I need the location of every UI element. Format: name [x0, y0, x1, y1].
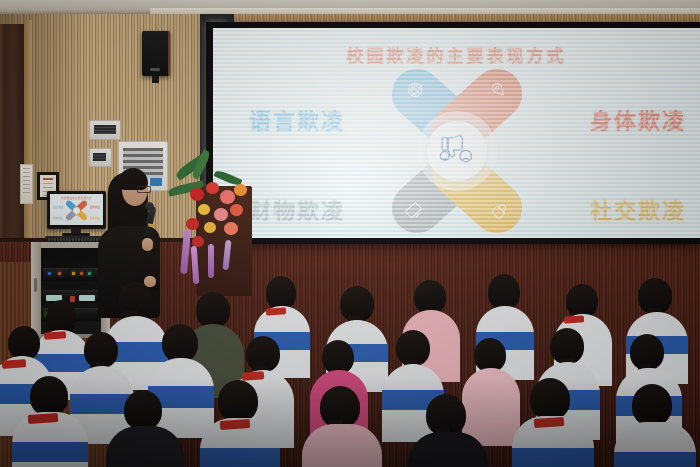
location-pin-icon: [486, 77, 515, 106]
monitor-label-verbal: 语言欺凌: [53, 205, 63, 209]
monitor-icon: [401, 198, 430, 227]
flower-bloom-red-2: [206, 182, 219, 194]
vent-box-upper: [89, 120, 121, 140]
thumbs-down-sad-face-icon: [436, 132, 478, 171]
flower-bloom-red-3: [230, 204, 243, 216]
classroom-photo: 校园欺凌的主要表现方式 语言欺凌 身体欺凌 财物欺凌 社交欺凌: [0, 0, 700, 467]
globe-icon: [399, 77, 428, 106]
monitor-mini-diagram: [68, 202, 85, 219]
slide-label-physical-bullying: 身体欺凌: [590, 104, 686, 136]
flower-bloom-pink-1: [220, 190, 235, 204]
presenter-glasses: [137, 186, 151, 193]
student-audience: [0, 272, 700, 467]
flower-bloom-orange-2: [224, 222, 238, 235]
flower-drape-purple-1: [180, 230, 191, 274]
presenter-hand-holding-mic: [142, 238, 153, 251]
flower-bloom-pink-2: [214, 208, 228, 221]
flower-bloom-orange-1: [234, 184, 247, 196]
slide-label-property-bullying: 财物欺凌: [249, 194, 345, 226]
slide-x-diagram: [391, 81, 523, 221]
flower-bloom-red-4: [186, 218, 199, 230]
monitor-center-disc: [73, 207, 80, 214]
speaker-mount-bracket: [152, 76, 159, 83]
monitor-label-property: 财物欺凌: [53, 216, 63, 220]
speaker-logo: [150, 68, 160, 71]
slide-label-social-bullying: 社交欺凌: [590, 194, 686, 226]
floral-arrangement: [168, 160, 260, 290]
wall-notice-paper: [20, 164, 33, 204]
projection-screen[interactable]: 校园欺凌的主要表现方式 语言欺凌 身体欺凌 财物欺凌 社交欺凌: [213, 28, 700, 238]
lock-icon: [484, 198, 513, 227]
slide-title: 校园欺凌的主要表现方式: [213, 42, 700, 67]
vent-box-lower: [89, 148, 112, 167]
flower-drape-purple-4: [222, 240, 231, 270]
diagram-center-disc: [427, 121, 487, 181]
flower-bloom-yellow-2: [204, 222, 216, 233]
flower-bloom-red-1: [190, 188, 204, 201]
flower-bloom-yellow-1: [198, 204, 210, 215]
slide-label-verbal-bullying: 语言欺凌: [249, 104, 345, 136]
